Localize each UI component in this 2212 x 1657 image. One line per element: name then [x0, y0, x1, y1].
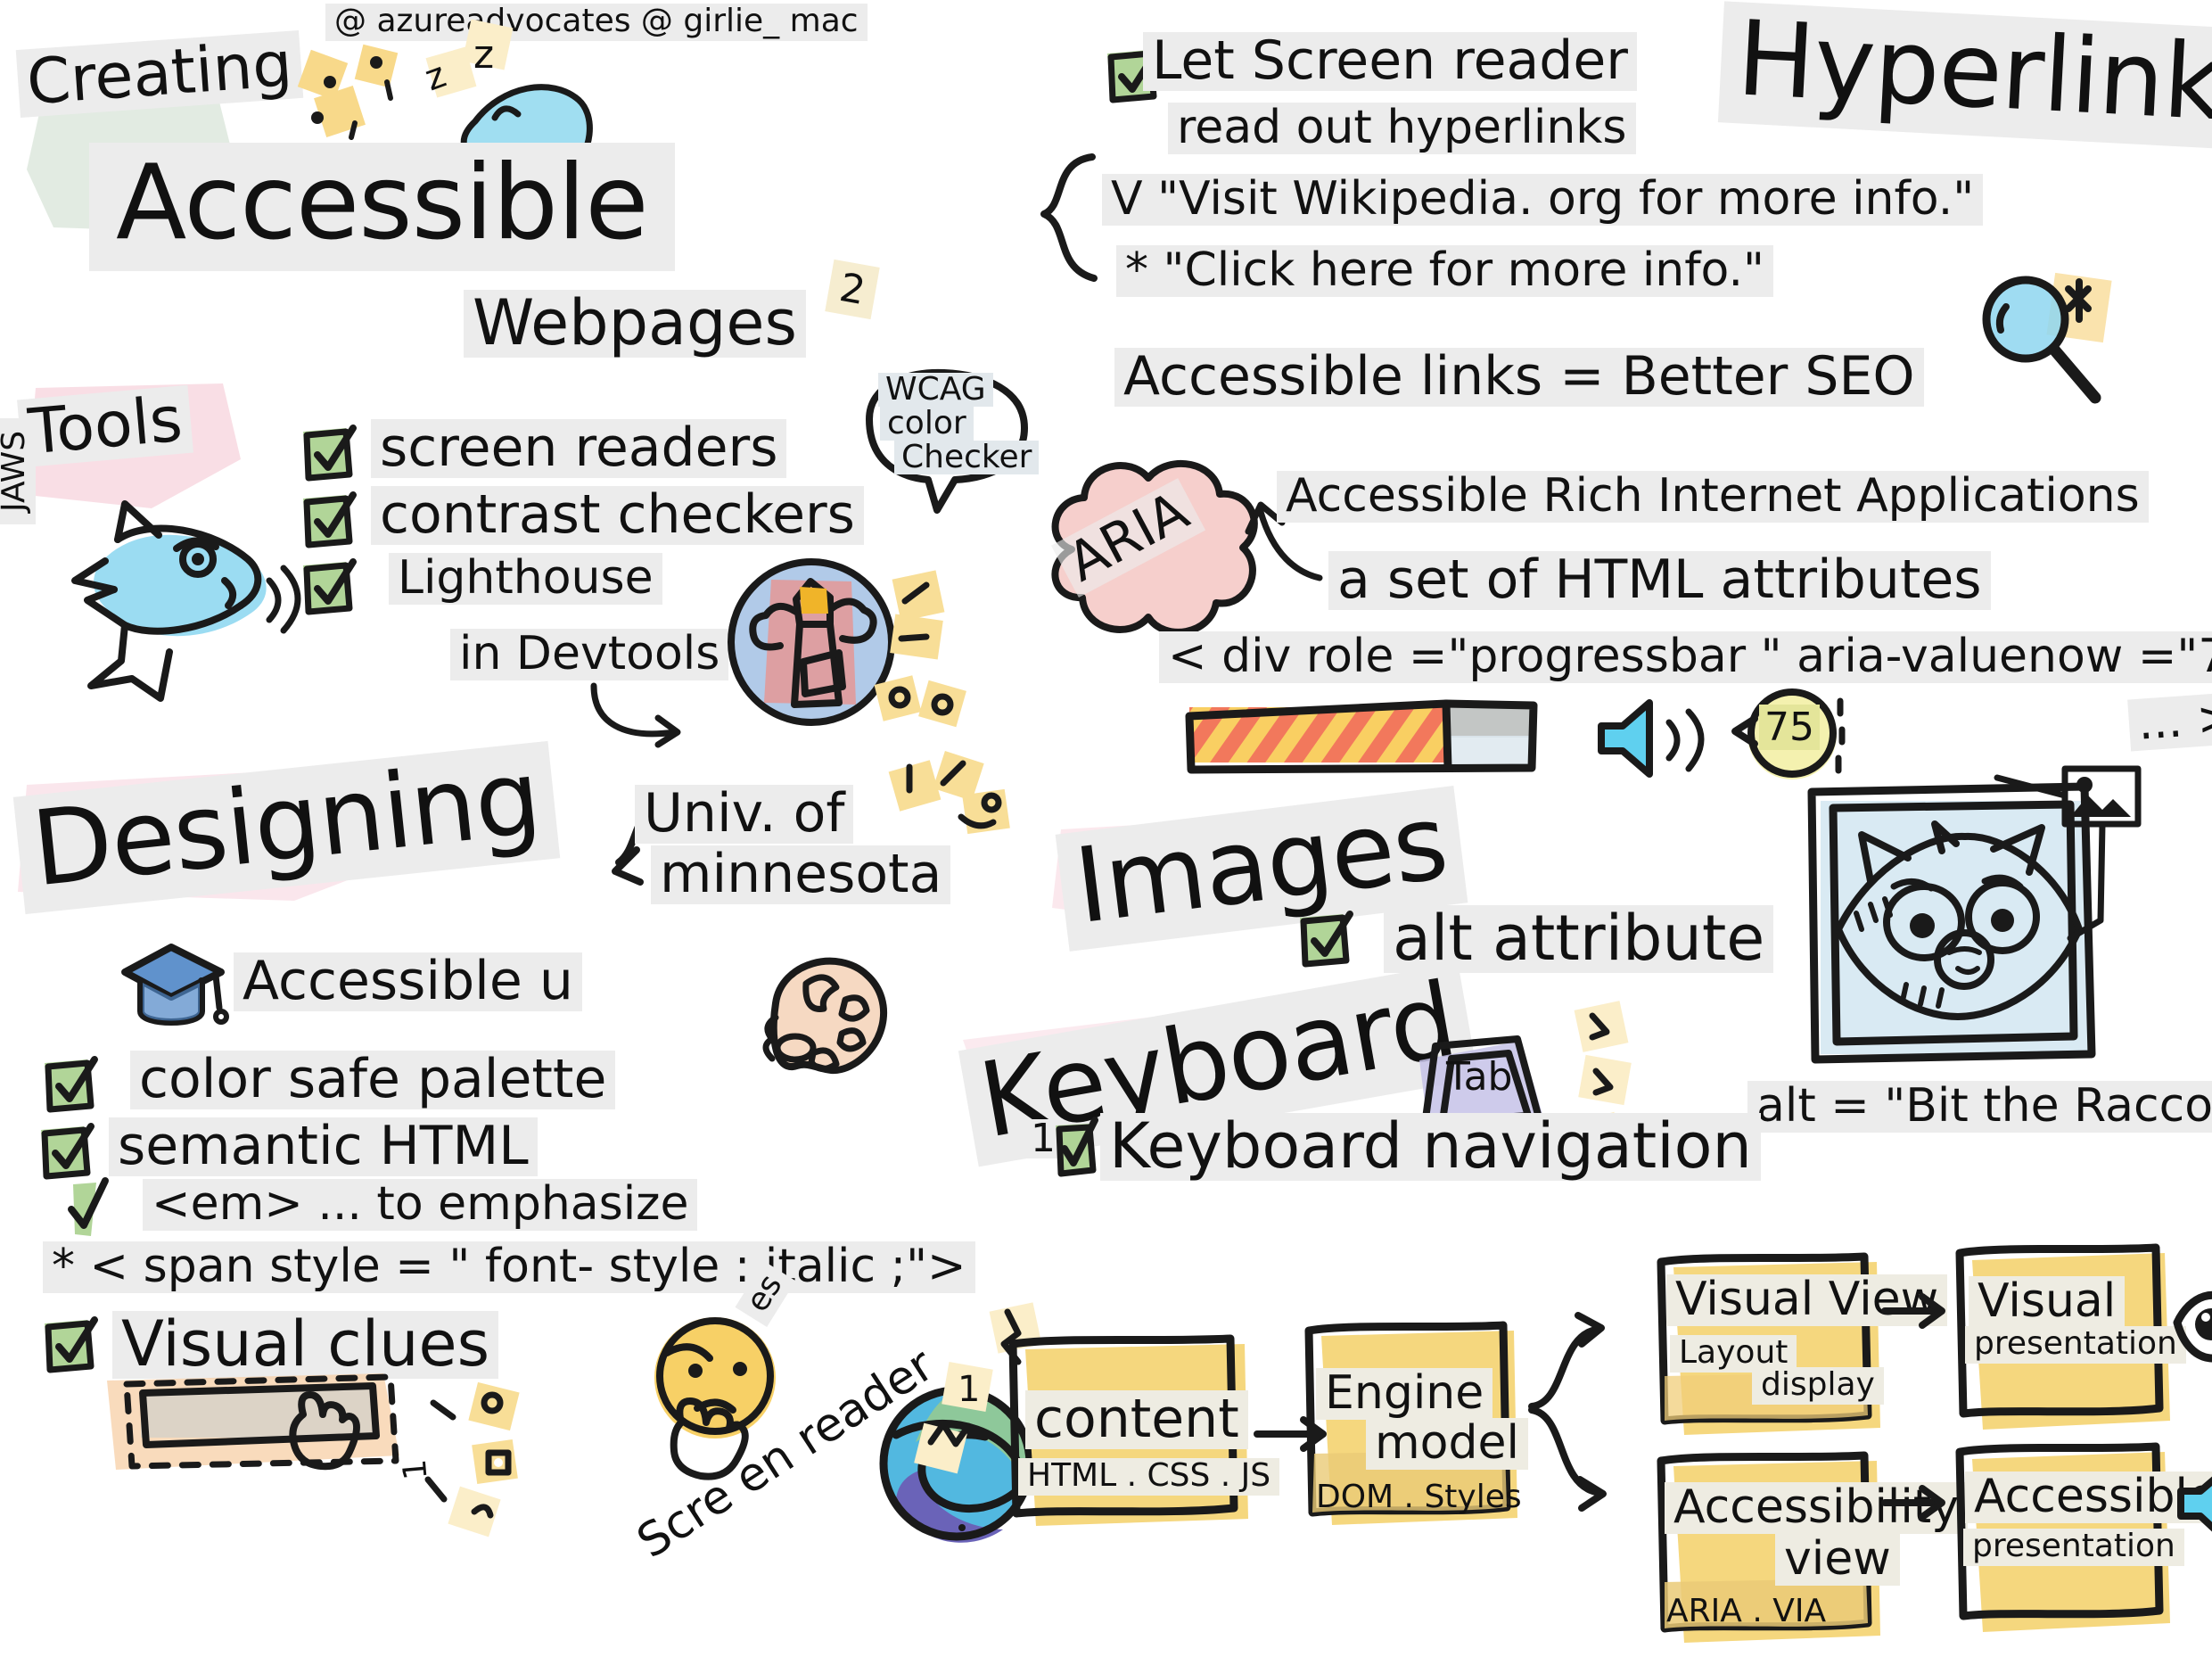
checkbox-checked-icon[interactable]	[294, 490, 358, 554]
speaker-icon	[2177, 1463, 2212, 1552]
page-number-sticky: 2	[829, 263, 876, 316]
hyperlinks-seo-note: Accessible links = Better SEO	[1114, 348, 1924, 407]
hyperlinks-rule-line1: Let Screen reader	[1143, 32, 1637, 91]
designing-item-label: Visual clues	[112, 1311, 498, 1379]
wcag-bubble-text: WCAG color Checker	[878, 373, 1039, 474]
jaws-label-text: JAWS	[0, 418, 36, 524]
designing-anti-pattern-text: * < span style = " font- style : italic …	[43, 1241, 975, 1293]
tools-item-contrast-checkers[interactable]: contrast checkers	[294, 486, 864, 545]
checkbox-checked-icon[interactable]	[36, 1054, 100, 1118]
checkbox-checked-icon[interactable]	[294, 556, 358, 621]
designing-item-semantic-html[interactable]: semantic HTML	[32, 1117, 538, 1176]
hyperlinks-good-example-text: V "Visit Wikipedia. org for more info."	[1102, 174, 1983, 226]
designing-item-visual-clues[interactable]: Visual clues	[36, 1311, 498, 1379]
tools-heading-text: Tools	[17, 385, 193, 467]
flow-arrow-a11yview-to-a11ypres-icon	[1881, 1476, 1961, 1529]
sparkle-doodle-visual-clues: 1	[392, 1387, 535, 1547]
wcag-line-2: color	[880, 407, 974, 441]
flow-node-sub-b: display	[1752, 1367, 1884, 1405]
hyperlinks-rule-line1-text: Let Screen reader	[1143, 32, 1637, 91]
flow-node-sub: ARIA . VIA	[1666, 1593, 1826, 1629]
designing-item-label: color safe palette	[130, 1051, 615, 1109]
flow-node-title: Visual	[1969, 1276, 2125, 1328]
aria-code-tail-text: ... >	[2127, 692, 2212, 752]
flow-node-title: Accessible	[1965, 1472, 2212, 1523]
speaker-icon	[1596, 696, 1747, 785]
aria-expansion: Accessible Rich Internet Applications	[1277, 471, 2149, 523]
aria-code-snippet: < div role ="progressbar " aria-valuenow…	[1159, 631, 2212, 683]
progressbar-illustration	[1186, 691, 1560, 789]
raccoon-picture-frame	[1774, 769, 2149, 1090]
hyperlinks-rule-line2-text: read out hyperlinks	[1168, 103, 1636, 154]
page-number-text: 2	[825, 260, 879, 319]
keyboard-item-label: Keyboard navigation	[1100, 1113, 1761, 1181]
lighthouse-icon	[718, 562, 914, 749]
images-item-alt-attribute[interactable]: alt attribute	[1291, 905, 1773, 973]
check-mark-icon[interactable]	[55, 1179, 118, 1245]
spark-digit: 1	[397, 1458, 435, 1481]
course-source-line1-text: Univ. of	[635, 785, 853, 844]
designing-item-label: <em> ... to emphasize	[143, 1179, 697, 1231]
aria-expansion-text: Accessible Rich Internet Applications	[1277, 471, 2149, 523]
svg-text:z: z	[473, 32, 494, 78]
tools-item-lighthouse[interactable]: Lighthouse	[294, 553, 662, 605]
flow-node-title-a: Engine	[1316, 1368, 1492, 1420]
flow-node-title: content	[1025, 1390, 1248, 1449]
curved-arrow-to-lighthouse-icon	[588, 682, 713, 763]
tools-item-label: screen readers	[371, 419, 786, 478]
magnifier-icon	[1970, 268, 2113, 419]
hyperlinks-heading: Hyperlinks	[1718, 1, 2212, 152]
hyperlinks-heading-text: Hyperlinks	[1718, 1, 2212, 152]
aria-code-snippet-text: < div role ="progressbar " aria-valuenow…	[1159, 631, 2212, 683]
designing-course-label[interactable]: Accessible u	[234, 952, 582, 1011]
tools-subnote-text: in Devtools	[450, 629, 728, 680]
images-alt-example-text: alt = "Bit the Raccoon"	[1747, 1081, 2212, 1133]
checkbox-checked-icon[interactable]	[36, 1315, 100, 1379]
checkbox-checked-icon[interactable]	[294, 423, 358, 487]
title-accessible: Accessible	[89, 143, 675, 271]
confetti-doodle-minnesota	[883, 749, 1025, 874]
graduation-cap-icon	[116, 936, 232, 1043]
tab-key-label-text: Tab	[1446, 1054, 1513, 1100]
designing-item-color-safe-palette[interactable]: color safe palette	[36, 1051, 615, 1109]
course-source-line1: Univ. of	[635, 785, 853, 844]
aria-definition: a set of HTML attributes	[1328, 551, 1991, 610]
sparkle-doodle-lighthouse	[887, 571, 1021, 749]
palette-icon	[740, 941, 900, 1101]
title-webpages: Webpages	[464, 290, 806, 358]
eye-icon	[2177, 1280, 2212, 1369]
tools-heading: Tools	[17, 385, 193, 467]
title-webpages-text: Webpages	[464, 290, 806, 358]
designing-item-em-emphasize[interactable]: <em> ... to emphasize	[55, 1179, 697, 1231]
shark-doodle	[62, 495, 312, 709]
keyboard-item-navigation[interactable]: Keyboard navigation	[1043, 1113, 1761, 1181]
wcag-line-1: WCAG	[878, 373, 993, 407]
checkbox-checked-icon[interactable]	[1043, 1118, 1106, 1184]
curly-connector-doodle	[1030, 152, 1110, 330]
value-badge-75-label: 75	[1759, 705, 1820, 750]
tools-subnote-devtools: in Devtools	[450, 629, 728, 680]
jaws-label: JAWS	[0, 418, 36, 524]
svg-text:1: 1	[958, 1369, 980, 1410]
flow-arrow-visualview-to-visualpres-icon	[1881, 1284, 1961, 1338]
aria-code-tail: ... >	[2127, 692, 2212, 752]
flow-node-sub: HTML . CSS . JS	[1018, 1458, 1279, 1496]
tools-item-label: contrast checkers	[371, 486, 864, 545]
flow-node-sub: DOM . Styles	[1316, 1479, 1522, 1515]
tools-item-screen-readers[interactable]: screen readers	[294, 419, 786, 478]
checkbox-checked-icon[interactable]	[32, 1121, 96, 1185]
designing-item-label: semantic HTML	[109, 1117, 538, 1176]
sketchnote-canvas: @ azureadvocates @ girlie_ mac Creating …	[0, 0, 2212, 1560]
value-badge-75-text: 75	[1759, 705, 1820, 750]
title-accessible-text: Accessible	[89, 143, 675, 271]
aria-definition-text: a set of HTML attributes	[1328, 551, 1991, 610]
hyperlinks-good-example: V "Visit Wikipedia. org for more info."	[1102, 174, 1983, 226]
hyperlinks-bad-example: * "Click here for more info."	[1116, 245, 1773, 297]
flow-node-sub: presentation	[1965, 1326, 2186, 1364]
flow-node-title-b: view	[1775, 1534, 1900, 1586]
checkbox-checked-icon[interactable]	[1291, 909, 1359, 977]
flow-node-title-b: model	[1366, 1418, 1528, 1470]
images-alt-example: alt = "Bit the Raccoon"	[1747, 1081, 2212, 1133]
hyperlinks-rule-line2: read out hyperlinks	[1168, 103, 1636, 154]
designing-course-label-text: Accessible u	[234, 952, 582, 1011]
flow-node-sub: presentation	[1963, 1529, 2184, 1566]
tools-item-label: Lighthouse	[389, 553, 662, 605]
tab-key-label: Tab	[1446, 1054, 1513, 1100]
designing-anti-pattern: * < span style = " font- style : italic …	[43, 1241, 975, 1293]
hyperlinks-bad-example-text: * "Click here for more info."	[1116, 245, 1773, 297]
hyperlinks-seo-note-text: Accessible links = Better SEO	[1114, 348, 1924, 407]
